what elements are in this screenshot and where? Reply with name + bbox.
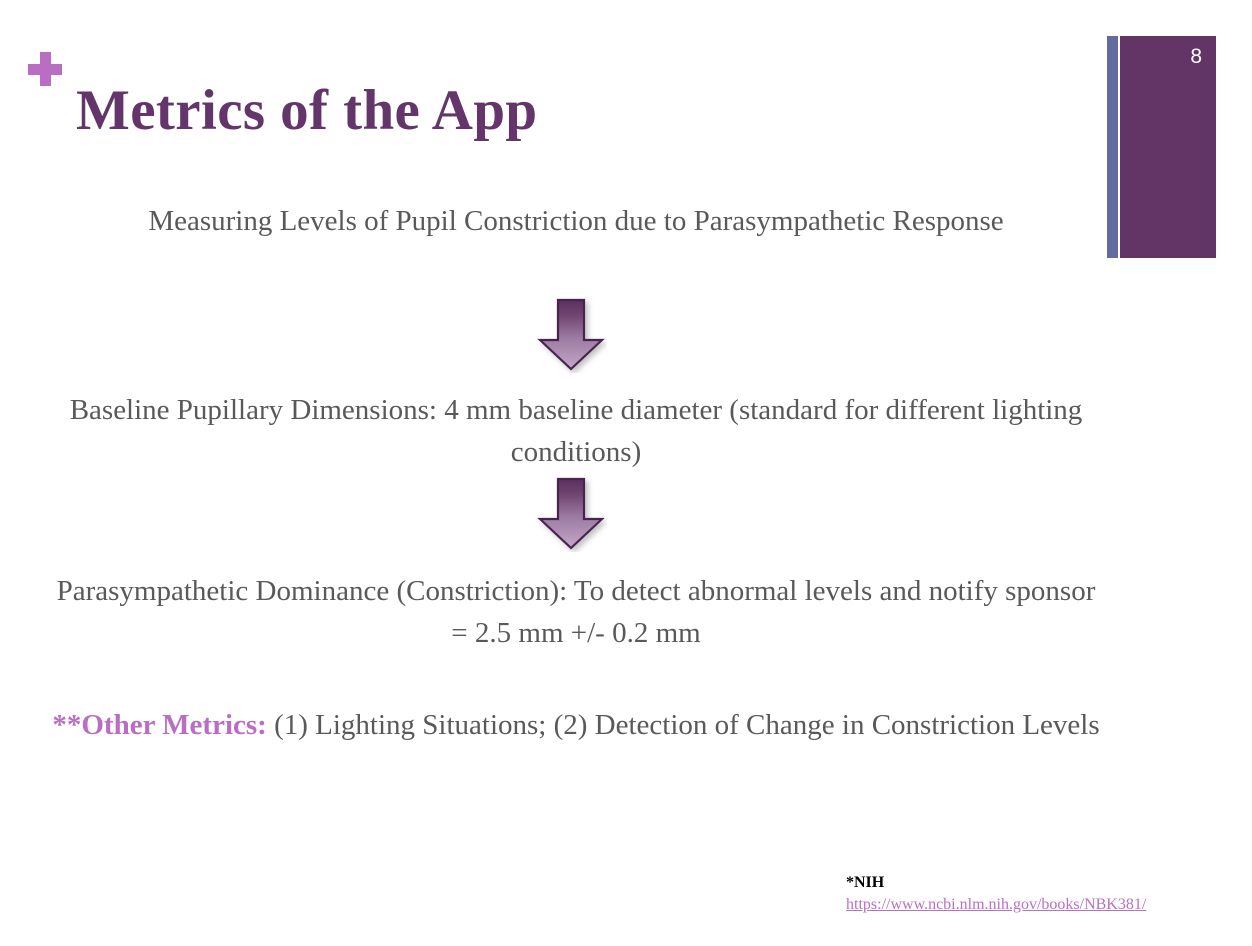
footnote-source-label: *NIH [846, 872, 1246, 894]
statement-baseline: Baseline Pupillary Dimensions: 4 mm base… [50, 389, 1102, 473]
plus-icon [28, 52, 62, 86]
arrow-down-icon [535, 476, 607, 552]
statement-measuring: Measuring Levels of Pupil Constriction d… [50, 200, 1102, 242]
page-title: Metrics of the App [76, 76, 538, 146]
arrow-down-icon [535, 297, 607, 373]
footnote-source-link[interactable]: https://www.ncbi.nlm.nih.gov/books/NBK38… [846, 894, 1246, 916]
plus-icon-vertical-bar [40, 52, 51, 86]
accent-bar-blue [1107, 36, 1118, 258]
footnote: *NIH https://www.ncbi.nlm.nih.gov/books/… [846, 872, 1246, 916]
other-metrics-body: (1) Lighting Situations; (2) Detection o… [267, 709, 1100, 741]
page-number-block: 8 [1120, 36, 1216, 258]
statement-other-metrics: **Other Metrics: (1) Lighting Situations… [50, 704, 1102, 746]
other-metrics-label: **Other Metrics: [52, 709, 266, 741]
page-number-label: 8 [1190, 44, 1202, 70]
statement-dominance: Parasympathetic Dominance (Constriction)… [50, 570, 1102, 654]
